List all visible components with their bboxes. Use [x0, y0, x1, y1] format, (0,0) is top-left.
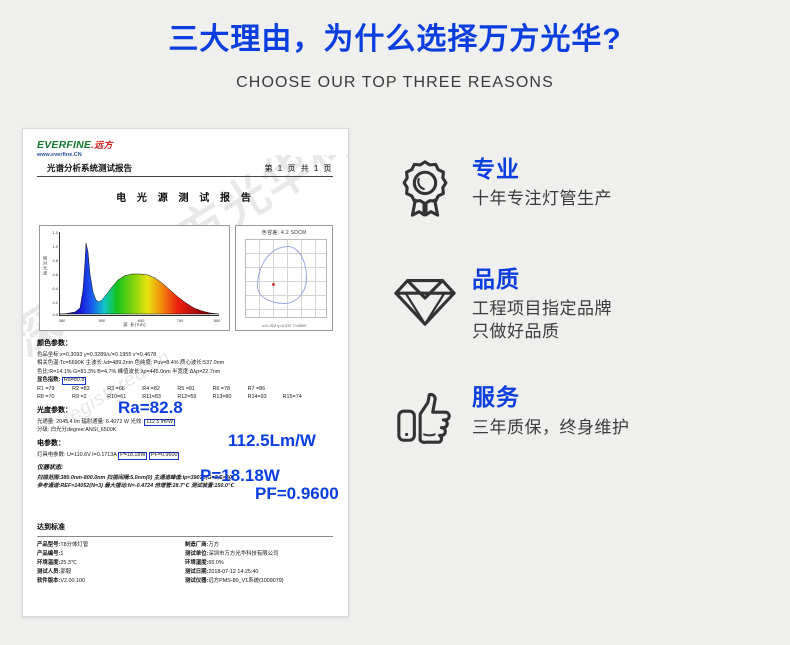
- row-key: 产品型号:: [37, 542, 60, 548]
- electrical-line: 灯具电参数: U=110.6V I=0.1713A P=18.18W PF=0.…: [37, 451, 337, 460]
- row-key: 测试单位:: [185, 551, 208, 557]
- cie-footer: x=0.313 y=0.337 T=6500: [236, 323, 332, 328]
- report-header-left: 光谱分析系统测试报告: [37, 162, 132, 174]
- r-value: R4 =82: [142, 385, 177, 393]
- power-boxed: P=18.18W: [118, 452, 147, 460]
- report-header-bar: 光谱分析系统测试报告 第 1 页 共 1 页: [37, 162, 333, 177]
- row-value: T8分体灯管: [60, 542, 88, 548]
- callout-efficacy: 112.5Lm/W: [228, 431, 316, 451]
- r-value: R5 =81: [177, 385, 212, 393]
- r-value: R8 =70: [37, 393, 72, 401]
- test-report-card: 深圳市万方光华科技有限公司 registered.cn EVERFINE.远方 …: [22, 128, 349, 617]
- table-row: 环境温度:25.3℃: [37, 559, 185, 568]
- thumbs-up-icon: [388, 380, 462, 454]
- instrument-line: 扫描范围:380.0nm-800.0nm 扫描间隔:5.0nm(0) 主通道峰值…: [37, 474, 337, 482]
- feature-title: 专业: [472, 156, 612, 182]
- feature-desc-line: 三年质保，终身维护: [472, 417, 630, 440]
- feature-text: 品质 工程项目指定品牌 只做好品质: [462, 262, 612, 344]
- table-row: 测试人员:郭毅: [37, 568, 185, 577]
- feature-desc-line: 十年专注灯管生产: [472, 188, 612, 211]
- feature-desc-line: 工程项目指定品牌: [472, 298, 612, 321]
- report-main-title: 电 光 源 测 试 报 告: [23, 189, 348, 204]
- cie-plot-area: [245, 239, 327, 318]
- callout-pf: PF=0.9600: [255, 484, 339, 504]
- feature-desc: 十年专注灯管生产: [472, 188, 612, 211]
- photometric-line: 光通量: 2045.4 lm 辐射通量: 6.4072 W 光效: 112.5 …: [37, 418, 337, 427]
- cri-line: 显色指数: Ra=80.8: [37, 376, 337, 385]
- photometric-values: 光通量: 2045.4 lm 辐射通量: 6.4072 W 光效:: [37, 419, 143, 425]
- row-value: 万方: [208, 542, 219, 548]
- pf-boxed: PF=0.9600: [149, 452, 180, 460]
- row-key: 制造厂商:: [185, 542, 208, 548]
- product-info-left-column: 产品型号:T8分体灯管 产品编号:1 环境温度:25.3℃ 测试人员:郭毅 软件…: [37, 541, 185, 586]
- product-info-table: 产品型号:T8分体灯管 产品编号:1 环境温度:25.3℃ 测试人员:郭毅 软件…: [37, 536, 333, 586]
- y-tick: 1.2: [42, 230, 58, 235]
- feature-item-professional: 专业 十年专注灯管生产: [388, 152, 778, 226]
- r-value: R15=74: [283, 393, 318, 401]
- row-key: 环境湿度:: [185, 560, 208, 566]
- table-row: 制造厂商:万方: [185, 541, 333, 550]
- logo-brand: EVERFINE: [37, 139, 91, 151]
- logo-site: www.everfine.CN: [37, 152, 113, 158]
- feature-title: 服务: [472, 384, 630, 410]
- row-key: 产品编号:: [37, 551, 60, 557]
- row-value: 远方PMS-80_V1系统(1009079): [208, 578, 283, 584]
- feature-item-quality: 品质 工程项目指定品牌 只做好品质: [388, 262, 778, 344]
- chart-x-axis: [59, 315, 219, 316]
- photometric-section-title: 光度参数：: [37, 406, 337, 417]
- chart-y-label: 相对光谱: [42, 256, 48, 276]
- cri-label: 显色指数:: [37, 377, 60, 383]
- page-subtitle: CHOOSE OUR TOP THREE REASONS: [0, 74, 790, 92]
- r-value: R3 =66: [107, 385, 142, 393]
- row-value: 25.3℃: [60, 560, 77, 566]
- table-row: 产品型号:T8分体灯管: [37, 541, 185, 550]
- r-value: R13=80: [212, 393, 247, 401]
- row-value: 郭毅: [60, 569, 71, 575]
- report-header-right: 第 1 页 共 1 页: [264, 163, 333, 174]
- feature-item-service: 服务 三年质保，终身维护: [388, 380, 778, 454]
- cie-point-marker: [272, 283, 275, 286]
- page-title: 三大理由，为什么选择万方光华?: [0, 22, 790, 58]
- row-key: 测试仪器:: [185, 578, 208, 584]
- cie-title: 色容差: 4.2 SDCM: [236, 229, 332, 236]
- y-tick: 0.0: [42, 312, 58, 317]
- everfine-logo: EVERFINE.远方 www.everfine.CN: [37, 140, 113, 158]
- row-key: 软件版本:: [37, 578, 60, 584]
- r-value: R2 =83: [72, 385, 107, 393]
- award-ribbon-icon: [388, 152, 462, 226]
- r-value: R6 =78: [212, 385, 247, 393]
- row-key: 测试日期:: [185, 569, 208, 575]
- r-value: R1 =79: [37, 385, 72, 393]
- table-row: 测试单位:深圳市万方光华科技有限公司: [185, 550, 333, 559]
- chromaticity-chart: 色容差: 4.2 SDCM x=0.313 y=0.337 T=6500: [235, 225, 333, 331]
- features-list: 专业 十年专注灯管生产 品质 工程项目指定品牌 只做好品质: [388, 152, 778, 454]
- row-value: 65.0%: [208, 560, 223, 566]
- color-line: 色比:R=14.1% G=81.3% B=4.7% 峰值波长:λp=445.0n…: [37, 368, 337, 376]
- color-line: 色品坐标:x=0.3093 y=0.3289/u'=0.1955 v'=0.46…: [37, 351, 337, 359]
- feature-text: 服务 三年质保，终身维护: [462, 380, 630, 439]
- cie-locus-icon: [257, 246, 307, 303]
- page-header: 三大理由，为什么选择万方光华? CHOOSE OUR TOP THREE REA…: [0, 0, 790, 92]
- table-row: 测试仪器:远方PMS-80_V1系统(1009079): [185, 577, 333, 586]
- feature-desc: 三年质保，终身维护: [472, 417, 630, 440]
- feature-text: 专业 十年专注灯管生产: [462, 152, 612, 211]
- product-info-right-column: 制造厂商:万方 测试单位:深圳市万方光华科技有限公司 环境湿度:65.0% 测试…: [185, 541, 333, 586]
- efficacy-boxed: 112.5 lm/W: [144, 419, 175, 427]
- color-section-title: 颜色参数：: [37, 339, 337, 350]
- table-row: 产品编号:1: [37, 550, 185, 559]
- r-values-grid: R1 =79 R2 =83 R3 =66 R4 =82 R5 =81 R6 =7…: [37, 385, 337, 402]
- table-row: 软件版本:V2.00.100: [37, 577, 185, 586]
- feature-title: 品质: [472, 266, 612, 292]
- charts-row: 1.2 1.0 0.8 0.6 0.4 0.2 0.0 380 500 600 …: [39, 225, 333, 329]
- logo-brand-cn: 远方: [94, 140, 112, 150]
- table-row: 测试日期:2018-07-12 14:25:40: [185, 568, 333, 577]
- y-tick: 0.2: [42, 300, 58, 305]
- y-tick: 1.0: [42, 244, 58, 249]
- diamond-icon: [388, 262, 462, 336]
- spectral-power-chart: 1.2 1.0 0.8 0.6 0.4 0.2 0.0 380 500 600 …: [39, 225, 230, 331]
- callout-ra: Ra=82.8: [118, 398, 183, 418]
- row-value: V2.00.100: [60, 578, 85, 584]
- r-value: R7 =86: [248, 385, 283, 393]
- color-line: 相关色温:Tc=6690K 主波长:λd=489.2nm 色纯度: Puv=8.…: [37, 359, 337, 367]
- feature-desc: 工程项目指定品牌 只做好品质: [472, 298, 612, 344]
- parameters-block: 颜色参数： 色品坐标:x=0.3093 y=0.3289/u'=0.1955 v…: [37, 335, 337, 491]
- electrical-values: 灯具电参数: U=110.6V I=0.1713A: [37, 452, 117, 458]
- row-value: 1: [60, 551, 63, 557]
- chart-x-label: 波 长(nm): [40, 322, 229, 328]
- promo-page: 三大理由，为什么选择万方光华? CHOOSE OUR TOP THREE REA…: [0, 0, 790, 645]
- row-value: 2018-07-12 14:25:40: [208, 569, 258, 575]
- row-value: 深圳市万方光华科技有限公司: [208, 551, 278, 557]
- instrument-section-title: 仪器状态:: [37, 464, 337, 473]
- cri-value-boxed: Ra=80.8: [62, 377, 87, 385]
- r-value: R9 =2: [72, 393, 107, 401]
- row-key: 环境温度:: [37, 560, 60, 566]
- logo-brand-text: EVERFINE.远方: [37, 140, 113, 151]
- y-tick: 0.4: [42, 286, 58, 291]
- table-row: 环境湿度:65.0%: [185, 559, 333, 568]
- spectrum-curve: [60, 240, 219, 315]
- r-value: R14=93: [248, 393, 283, 401]
- feature-desc-line: 只做好品质: [472, 321, 612, 344]
- callout-power: P=18.18W: [200, 466, 280, 486]
- row-key: 测试人员:: [37, 569, 60, 575]
- standard-label: 达到标准: [37, 522, 65, 532]
